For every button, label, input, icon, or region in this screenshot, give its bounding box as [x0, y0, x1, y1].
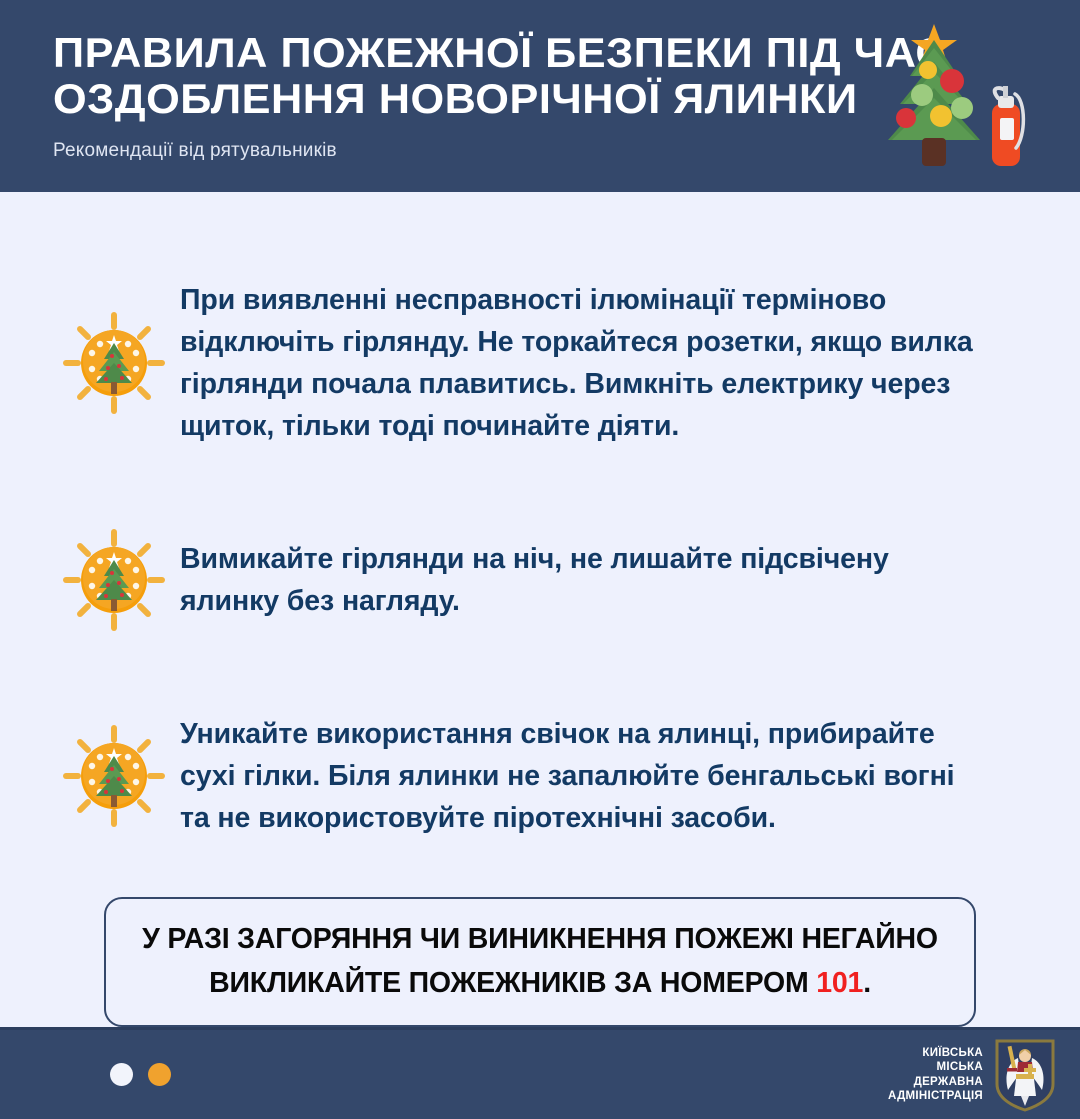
ornament	[930, 105, 952, 127]
callout-text-after: .	[863, 967, 871, 999]
list-item: Вимикайте гірлянди на ніч, не лишайте пі…	[62, 509, 1018, 650]
poster-footer: КИЇВСЬКА МІСЬКА ДЕРЖАВНА АДМІНІСТРАЦІЯ	[0, 1027, 1080, 1119]
header-artwork	[872, 18, 1052, 183]
page-title: ПРАВИЛА ПОЖЕЖНОЇ БЕЗПЕКИ ПІД ЧАС ОЗДОБЛЕ…	[53, 30, 959, 122]
brand-line-4: АДМІНІСТРАЦІЯ	[888, 1089, 983, 1104]
ornament	[896, 108, 916, 128]
poster-body: При виявленні несправності ілюмінації те…	[0, 192, 1080, 1027]
ornament	[919, 61, 937, 79]
pagination-dots[interactable]	[110, 1063, 171, 1086]
brand-line-3: ДЕРЖАВНА	[888, 1075, 983, 1090]
christmas-tree-and-extinguisher-icon	[872, 18, 1052, 183]
tree-trunk	[922, 138, 946, 166]
brand-name: КИЇВСЬКА МІСЬКА ДЕРЖАВНА АДМІНІСТРАЦІЯ	[888, 1046, 983, 1104]
infographic-poster: ПРАВИЛА ПОЖЕЖНОЇ БЕЗПЕКИ ПІД ЧАС ОЗДОБЛЕ…	[0, 0, 1080, 1080]
page-dot-2[interactable]	[148, 1063, 171, 1086]
list-item: При виявленні несправності ілюмінації те…	[62, 250, 1018, 475]
brand-line-1: КИЇВСЬКА	[888, 1046, 983, 1061]
page-dot-1[interactable]	[110, 1063, 133, 1086]
emergency-callout-box: У РАЗІ ЗАГОРЯННЯ ЧИ ВИНИКНЕННЯ ПОЖЕЖІ НЕ…	[104, 897, 976, 1027]
page-title-line-2: ОЗДОБЛЕННЯ НОВОРІЧНОЇ ЯЛИНКИ	[53, 76, 959, 122]
tips-list: При виявленні несправності ілюмінації те…	[62, 250, 1018, 867]
page-title-line-1: ПРАВИЛА ПОЖЕЖНОЇ БЕЗПЕКИ ПІД ЧАС	[53, 30, 959, 76]
kyiv-coat-of-arms-icon	[994, 1038, 1056, 1112]
brand-line-2: МІСЬКА	[888, 1060, 983, 1075]
brand-block: КИЇВСЬКА МІСЬКА ДЕРЖАВНА АДМІНІСТРАЦІЯ	[888, 1038, 1056, 1112]
tip-text: При виявленні несправності ілюмінації те…	[180, 279, 980, 447]
emergency-callout-text: У РАЗІ ЗАГОРЯННЯ ЧИ ВИНИКНЕННЯ ПОЖЕЖІ НЕ…	[132, 917, 948, 1005]
tip-text: Уникайте використання свічок на ялинці, …	[180, 713, 980, 839]
tip-text: Вимикайте гірлянди на ніч, не лишайте пі…	[180, 538, 980, 622]
fire-extinguisher-icon	[992, 86, 1023, 166]
sun-christmas-tree-icon	[62, 724, 166, 828]
poster-header: ПРАВИЛА ПОЖЕЖНОЇ БЕЗПЕКИ ПІД ЧАС ОЗДОБЛЕ…	[0, 0, 1080, 192]
emergency-number: 101	[816, 967, 863, 999]
ornament	[951, 97, 973, 119]
ornament	[911, 84, 933, 106]
sun-christmas-tree-icon	[62, 528, 166, 632]
sun-christmas-tree-icon	[62, 311, 166, 415]
ornament	[940, 69, 964, 93]
list-item: Уникайте використання свічок на ялинці, …	[62, 684, 1018, 867]
